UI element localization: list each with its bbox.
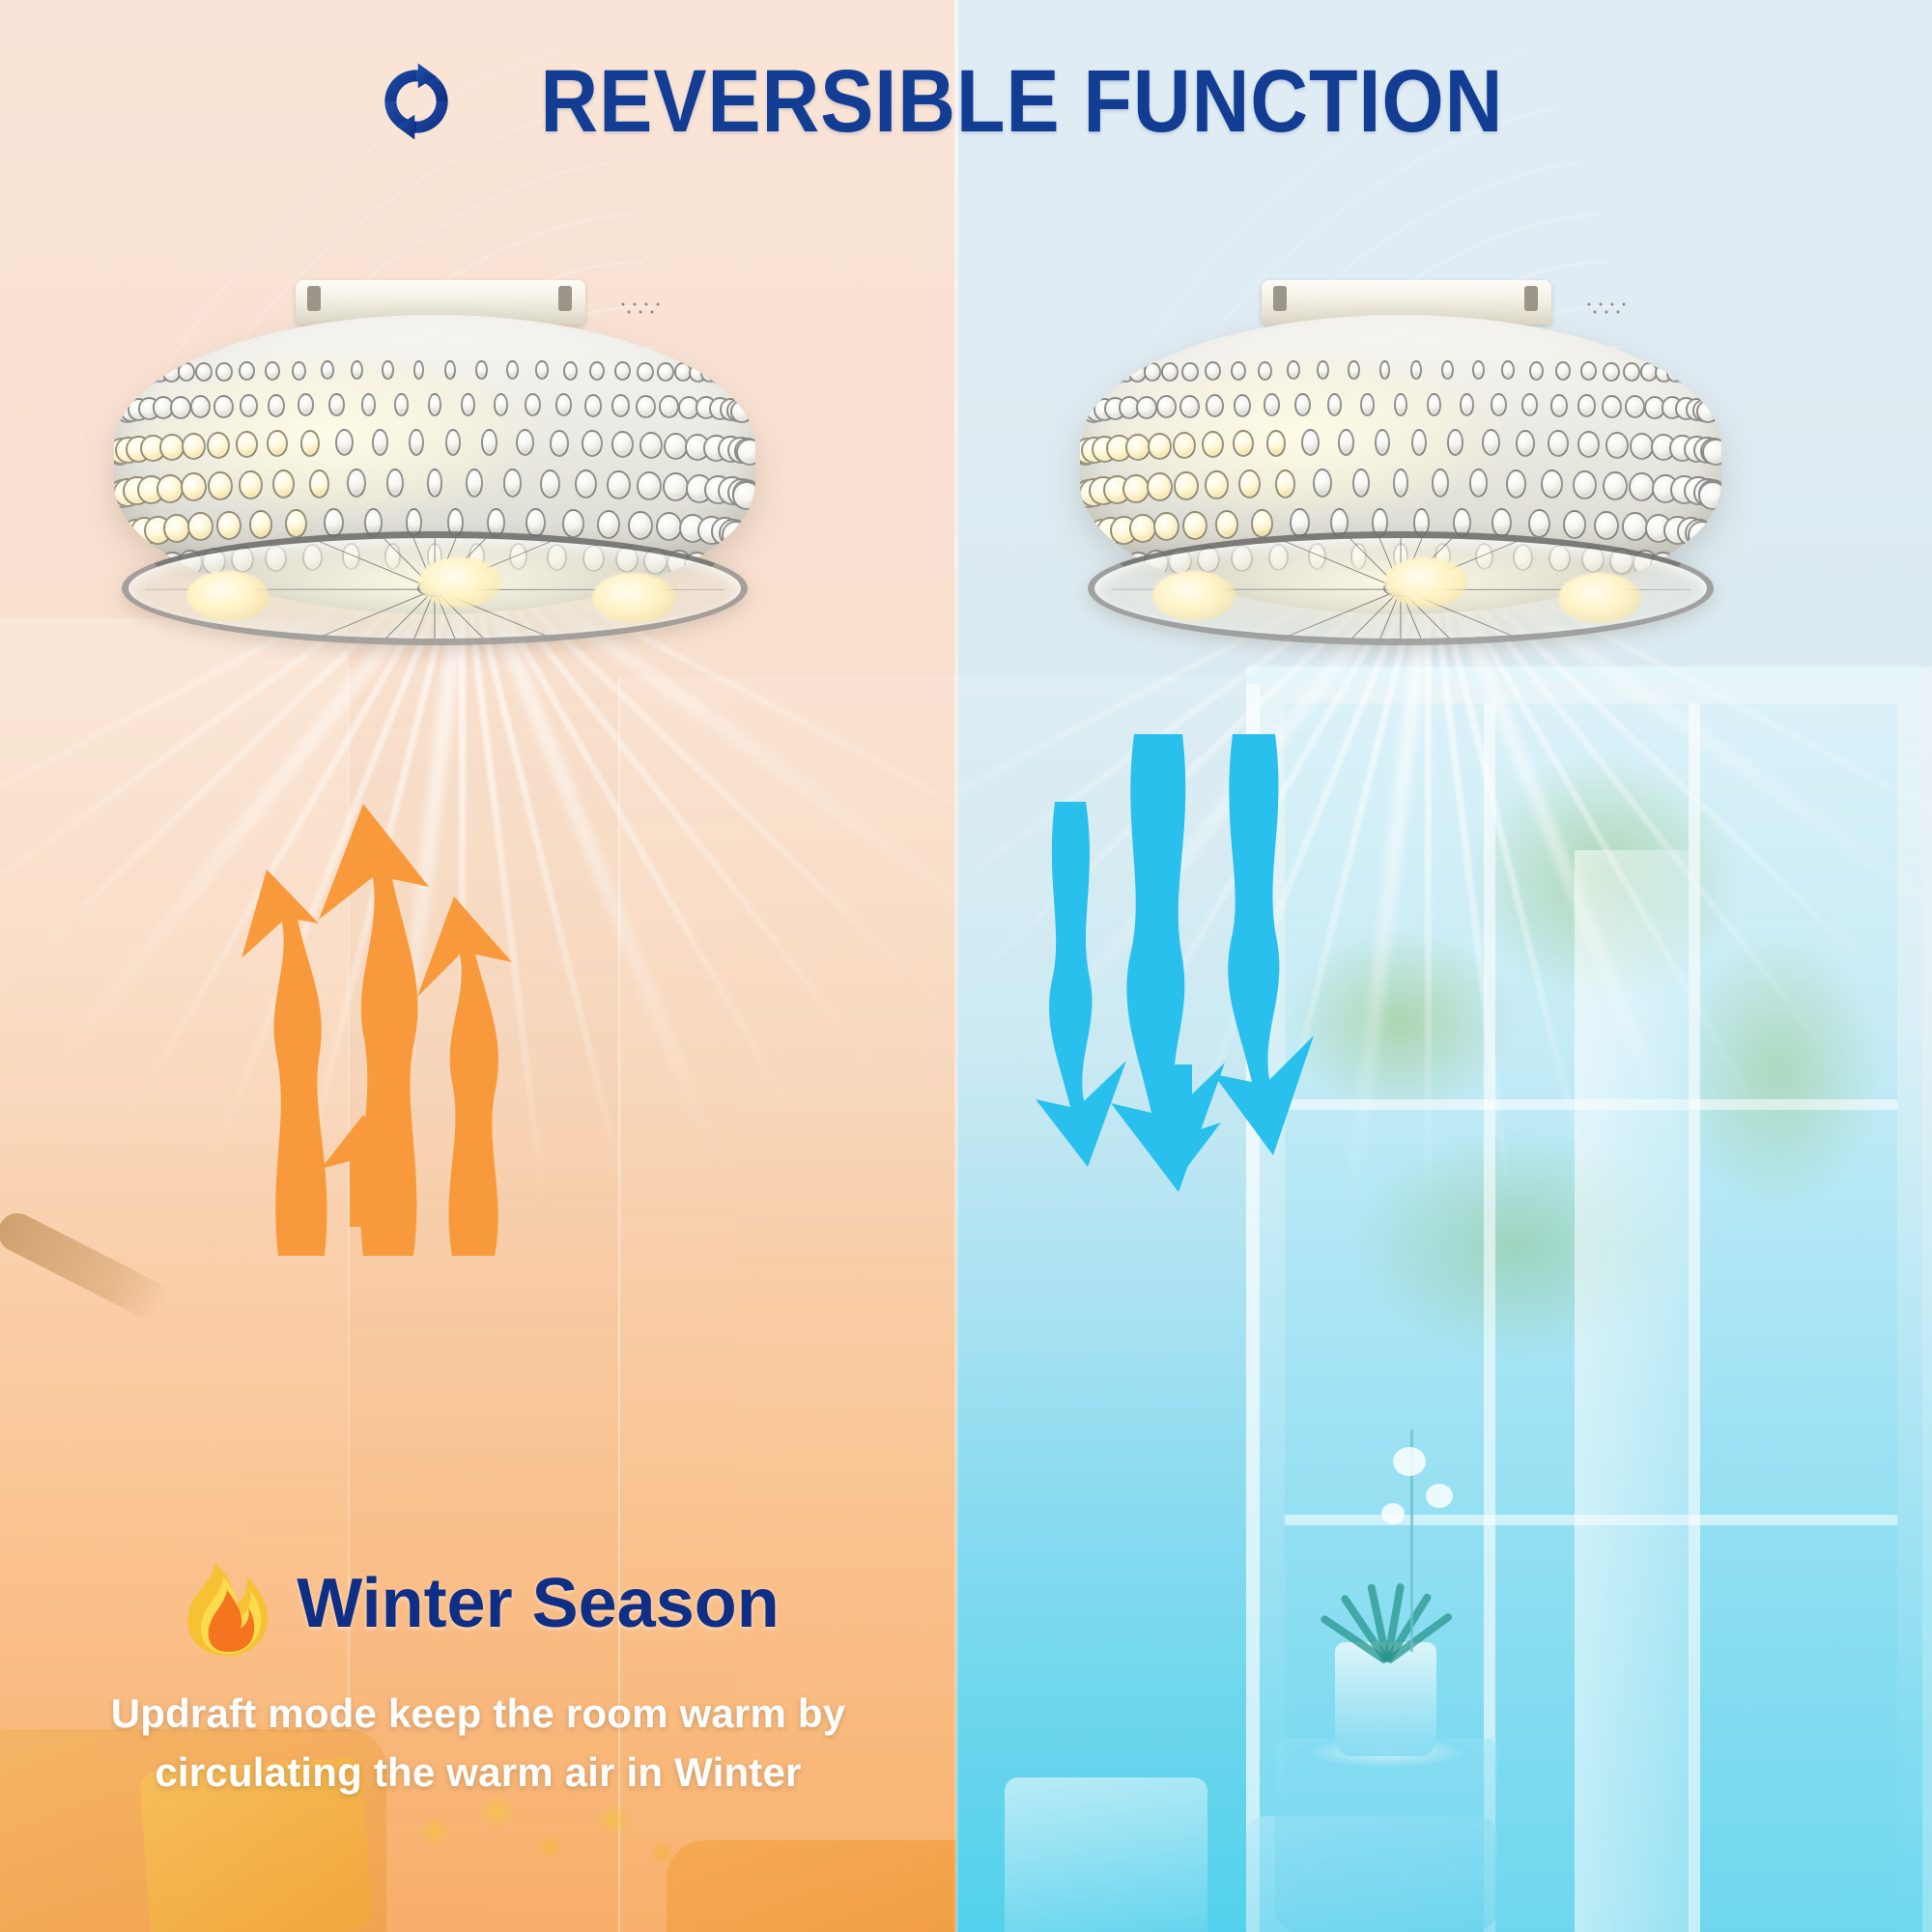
summer-caption: Summer season Downdraft mode make you fe…: [1913, 1536, 1932, 1803]
throw-blanket: [667, 1840, 956, 1932]
summer-panel: Summer season Downdraft mode make you fe…: [956, 0, 1932, 1932]
flower-bloom: [1393, 1447, 1426, 1476]
flower-bloom: [1381, 1503, 1405, 1524]
winter-panel: Winter Season Updraft mode keep the room…: [0, 0, 956, 1932]
flower-vase: [406, 1793, 696, 1932]
ceiling-fan-light-winter: [97, 272, 773, 678]
header-banner: REVERSIBLE FUNCTION: [0, 44, 1932, 158]
winter-description-line-1: Updraft mode keep the room warm by: [39, 1685, 918, 1744]
fire-emoji: [177, 1549, 279, 1658]
summer-description: Downdraft mode make you feeling cool in …: [1913, 1685, 1932, 1803]
side-table: [1005, 1777, 1207, 1932]
product-feature-graphic: Winter Season Updraft mode keep the room…: [0, 0, 1932, 1932]
flower-bloom: [1426, 1484, 1453, 1508]
plant-stand: [1275, 1739, 1497, 1932]
winter-description-line-2: circulating the warm air in Winter: [39, 1744, 918, 1803]
ceiling-fan-light-summer: [1063, 272, 1739, 678]
reversible-arrows-icon: [375, 60, 458, 143]
winter-title: Winter Season: [297, 1564, 779, 1643]
summer-downdraft-arrows: [985, 734, 1391, 1275]
winter-updraft-arrows: [174, 715, 580, 1256]
winter-description: Updraft mode keep the room warm by circu…: [0, 1685, 956, 1803]
winter-caption: Winter Season Updraft mode keep the room…: [0, 1536, 956, 1803]
page-title: REVERSIBLE FUNCTION: [541, 51, 1504, 153]
plant-leaves: [1316, 1555, 1470, 1662]
